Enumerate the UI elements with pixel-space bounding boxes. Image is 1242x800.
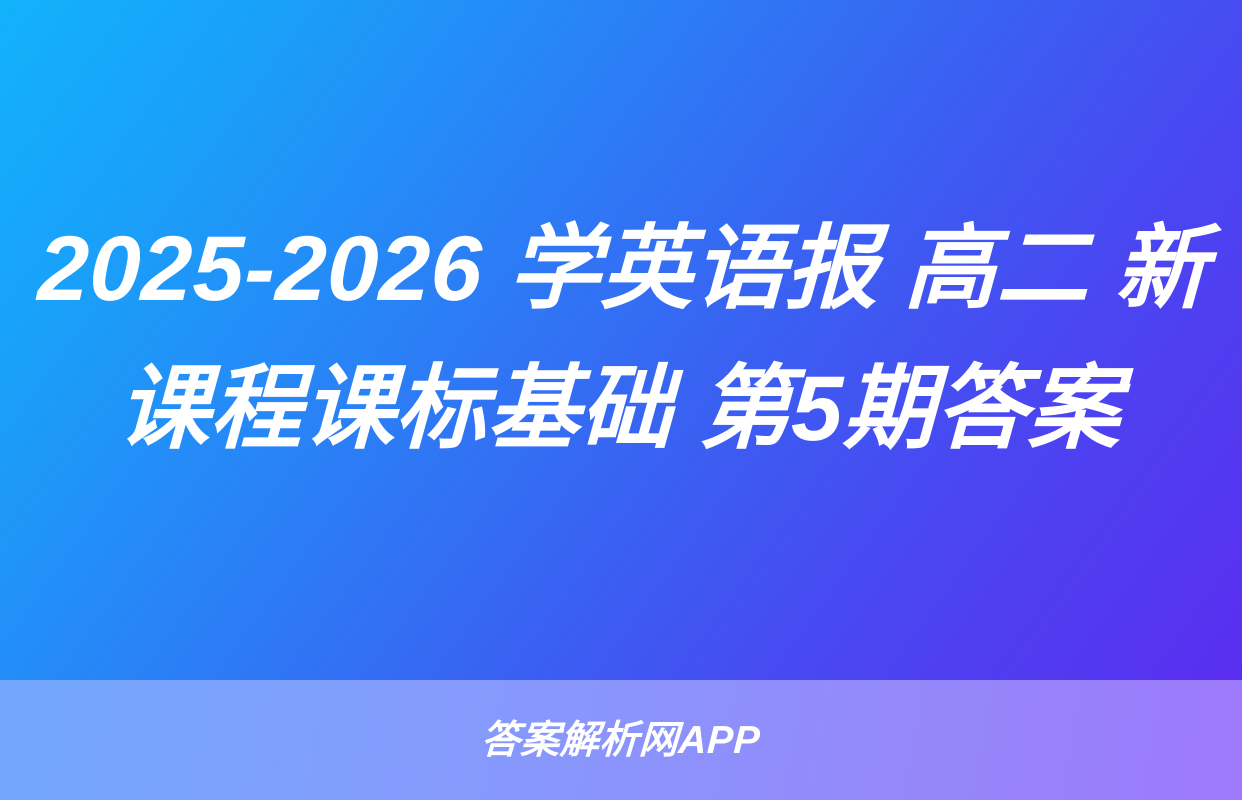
hero-gradient-panel: 2025-2026 学英语报 高二 新课程课标基础 第5期答案: [0, 0, 1242, 680]
page-title: 2025-2026 学英语报 高二 新课程课标基础 第5期答案: [30, 200, 1211, 480]
answer-poster: 2025-2026 学英语报 高二 新课程课标基础 第5期答案 答案解析网APP: [0, 0, 1242, 800]
brand-app-label: 答案解析网APP: [480, 721, 761, 760]
brand-footer-band: 答案解析网APP: [0, 680, 1242, 800]
